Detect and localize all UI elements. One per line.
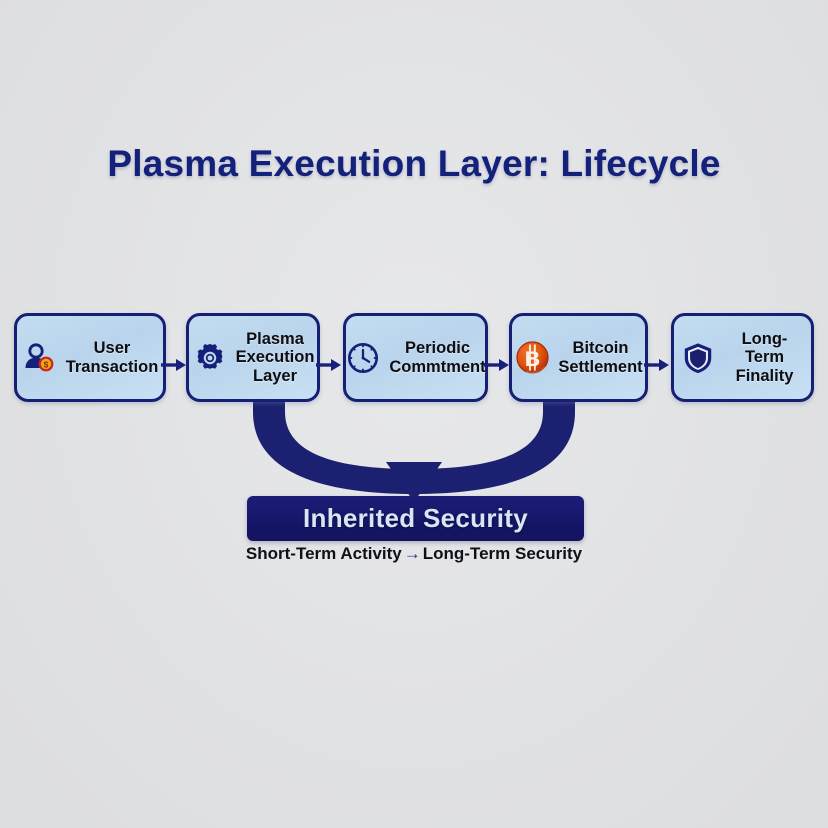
inherited-security-curve bbox=[0, 390, 828, 510]
shield-icon bbox=[680, 340, 716, 376]
flow-node-label: Long-Term Finality bbox=[724, 330, 805, 385]
caption-arrow-icon: → bbox=[402, 544, 423, 563]
svg-text:B: B bbox=[525, 347, 540, 371]
flow-node-label: User Transaction bbox=[66, 339, 159, 376]
flow-node-user-transaction[interactable]: $ User Transaction bbox=[14, 313, 166, 402]
flow-node-plasma-execution[interactable]: Plasma Execution Layer bbox=[186, 313, 320, 402]
clock-icon bbox=[345, 340, 381, 376]
flow-node-bitcoin-settlement[interactable]: B Bitcoin Settlement bbox=[509, 313, 648, 402]
arrow-right-icon-2 bbox=[484, 357, 510, 373]
flow-node-periodic-commitment[interactable]: Periodic Commtment bbox=[343, 313, 488, 402]
bitcoin-icon: B bbox=[514, 340, 550, 376]
diagram-canvas: Plasma Execution Layer: Lifecycle $ User… bbox=[0, 0, 828, 828]
caption-right-text: Long-Term Security bbox=[423, 544, 582, 563]
summary-caption: Short-Term Activity→Long-Term Security bbox=[0, 544, 828, 564]
flow-node-label: Bitcoin Settlement bbox=[558, 339, 642, 376]
page-title: Plasma Execution Layer: Lifecycle bbox=[0, 143, 828, 185]
arrow-right-icon-0 bbox=[161, 357, 187, 373]
user-coin-icon: $ bbox=[22, 340, 58, 376]
caption-left-text: Short-Term Activity bbox=[246, 544, 402, 563]
flow-node-label: Periodic Commtment bbox=[389, 339, 485, 376]
flow-node-long-term-finality[interactable]: Long-Term Finality bbox=[671, 313, 814, 402]
flow-node-label: Plasma Execution Layer bbox=[236, 330, 315, 385]
arrow-right-icon-3 bbox=[644, 357, 670, 373]
lifecycle-flow-row: $ User Transaction Plasma Execution Laye… bbox=[0, 313, 828, 403]
arrow-right-icon-1 bbox=[316, 357, 342, 373]
gear-icon bbox=[192, 340, 228, 376]
svg-text:$: $ bbox=[43, 359, 48, 369]
inherited-security-banner: Inherited Security bbox=[247, 496, 584, 541]
banner-label: Inherited Security bbox=[303, 503, 528, 534]
